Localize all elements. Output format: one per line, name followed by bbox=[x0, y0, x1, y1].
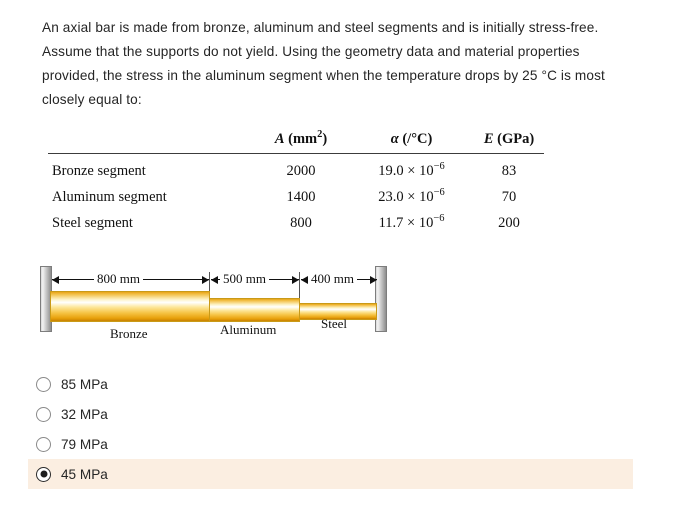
header-modulus-symbol: E bbox=[484, 131, 494, 147]
header-area: A (mm2) bbox=[253, 131, 349, 154]
row-label: Bronze segment bbox=[48, 154, 253, 185]
segment-label-steel: Steel bbox=[321, 316, 347, 332]
row-area: 1400 bbox=[253, 184, 349, 210]
row-label: Steel segment bbox=[48, 210, 253, 236]
bar-segment-bronze bbox=[50, 291, 210, 322]
header-alpha-symbol: α bbox=[391, 131, 399, 147]
radio-button-selected-icon[interactable] bbox=[36, 467, 51, 482]
answer-label: 85 MPa bbox=[61, 377, 108, 392]
answer-label: 45 MPa bbox=[61, 467, 108, 482]
row-alpha-mantissa: 19.0 × 10 bbox=[378, 163, 433, 179]
radio-button-icon[interactable] bbox=[36, 407, 51, 422]
header-area-exponent: 2 bbox=[317, 129, 322, 140]
row-area: 800 bbox=[253, 210, 349, 236]
dimension-arrow-right-bronze bbox=[202, 276, 209, 284]
table-row: Steel segment 800 11.7 × 10−6 200 bbox=[48, 210, 544, 236]
radio-button-icon[interactable] bbox=[36, 437, 51, 452]
row-area: 2000 bbox=[253, 154, 349, 185]
row-alpha: 11.7 × 10−6 bbox=[349, 210, 474, 236]
answer-label: 79 MPa bbox=[61, 437, 108, 452]
segment-label-aluminum: Aluminum bbox=[220, 322, 276, 338]
row-alpha: 19.0 × 10−6 bbox=[349, 154, 474, 185]
row-alpha: 23.0 × 10−6 bbox=[349, 184, 474, 210]
header-area-unit: mm bbox=[293, 131, 317, 147]
answer-options-list: 85 MPa 32 MPa 79 MPa 45 MPa bbox=[0, 369, 687, 489]
row-label: Aluminum segment bbox=[48, 184, 253, 210]
segment-label-bronze: Bronze bbox=[110, 326, 148, 342]
row-alpha-exponent: −6 bbox=[433, 213, 444, 224]
radio-dot bbox=[40, 471, 47, 478]
dimension-arrow-right-steel bbox=[370, 276, 377, 284]
answer-option-1[interactable]: 32 MPa bbox=[0, 399, 687, 429]
header-alpha: α (/°C) bbox=[349, 131, 474, 154]
header-area-symbol: A bbox=[275, 131, 285, 147]
axial-bar-diagram: 800 mm 500 mm 400 mm Bronze Aluminum Ste… bbox=[38, 266, 398, 350]
header-segment bbox=[48, 131, 253, 154]
dimension-label-bronze: 800 mm bbox=[94, 271, 143, 287]
answer-option-2[interactable]: 79 MPa bbox=[0, 429, 687, 459]
row-alpha-mantissa: 11.7 × 10 bbox=[379, 215, 434, 231]
row-modulus: 83 bbox=[474, 154, 544, 185]
dimension-arrow-left-aluminum bbox=[211, 276, 218, 284]
dimension-label-aluminum: 500 mm bbox=[220, 271, 269, 287]
dimension-label-steel: 400 mm bbox=[308, 271, 357, 287]
material-properties-table: A (mm2) α (/°C) E (GPa) Bronze segment 2… bbox=[48, 131, 544, 236]
question-text: An axial bar is made from bronze, alumin… bbox=[42, 16, 627, 112]
table-row: Bronze segment 2000 19.0 × 10−6 83 bbox=[48, 154, 544, 185]
header-alpha-unit: (/°C) bbox=[402, 131, 432, 147]
row-modulus: 70 bbox=[474, 184, 544, 210]
header-modulus-unit: (GPa) bbox=[497, 131, 534, 147]
answer-option-3[interactable]: 45 MPa bbox=[28, 459, 633, 489]
row-modulus: 200 bbox=[474, 210, 544, 236]
header-modulus: E (GPa) bbox=[474, 131, 544, 154]
bar-segment-aluminum bbox=[209, 298, 300, 322]
answer-label: 32 MPa bbox=[61, 407, 108, 422]
dimension-arrow-right-aluminum bbox=[292, 276, 299, 284]
answer-option-0[interactable]: 85 MPa bbox=[0, 369, 687, 399]
row-alpha-mantissa: 23.0 × 10 bbox=[378, 189, 433, 205]
dimension-arrow-left-bronze bbox=[52, 276, 59, 284]
dimension-arrow-left-steel bbox=[301, 276, 308, 284]
radio-button-icon[interactable] bbox=[36, 377, 51, 392]
row-alpha-exponent: −6 bbox=[434, 161, 445, 172]
table-row: Aluminum segment 1400 23.0 × 10−6 70 bbox=[48, 184, 544, 210]
row-alpha-exponent: −6 bbox=[434, 187, 445, 198]
table-header-row: A (mm2) α (/°C) E (GPa) bbox=[48, 131, 544, 154]
tick-aluminum-steel bbox=[299, 272, 300, 298]
